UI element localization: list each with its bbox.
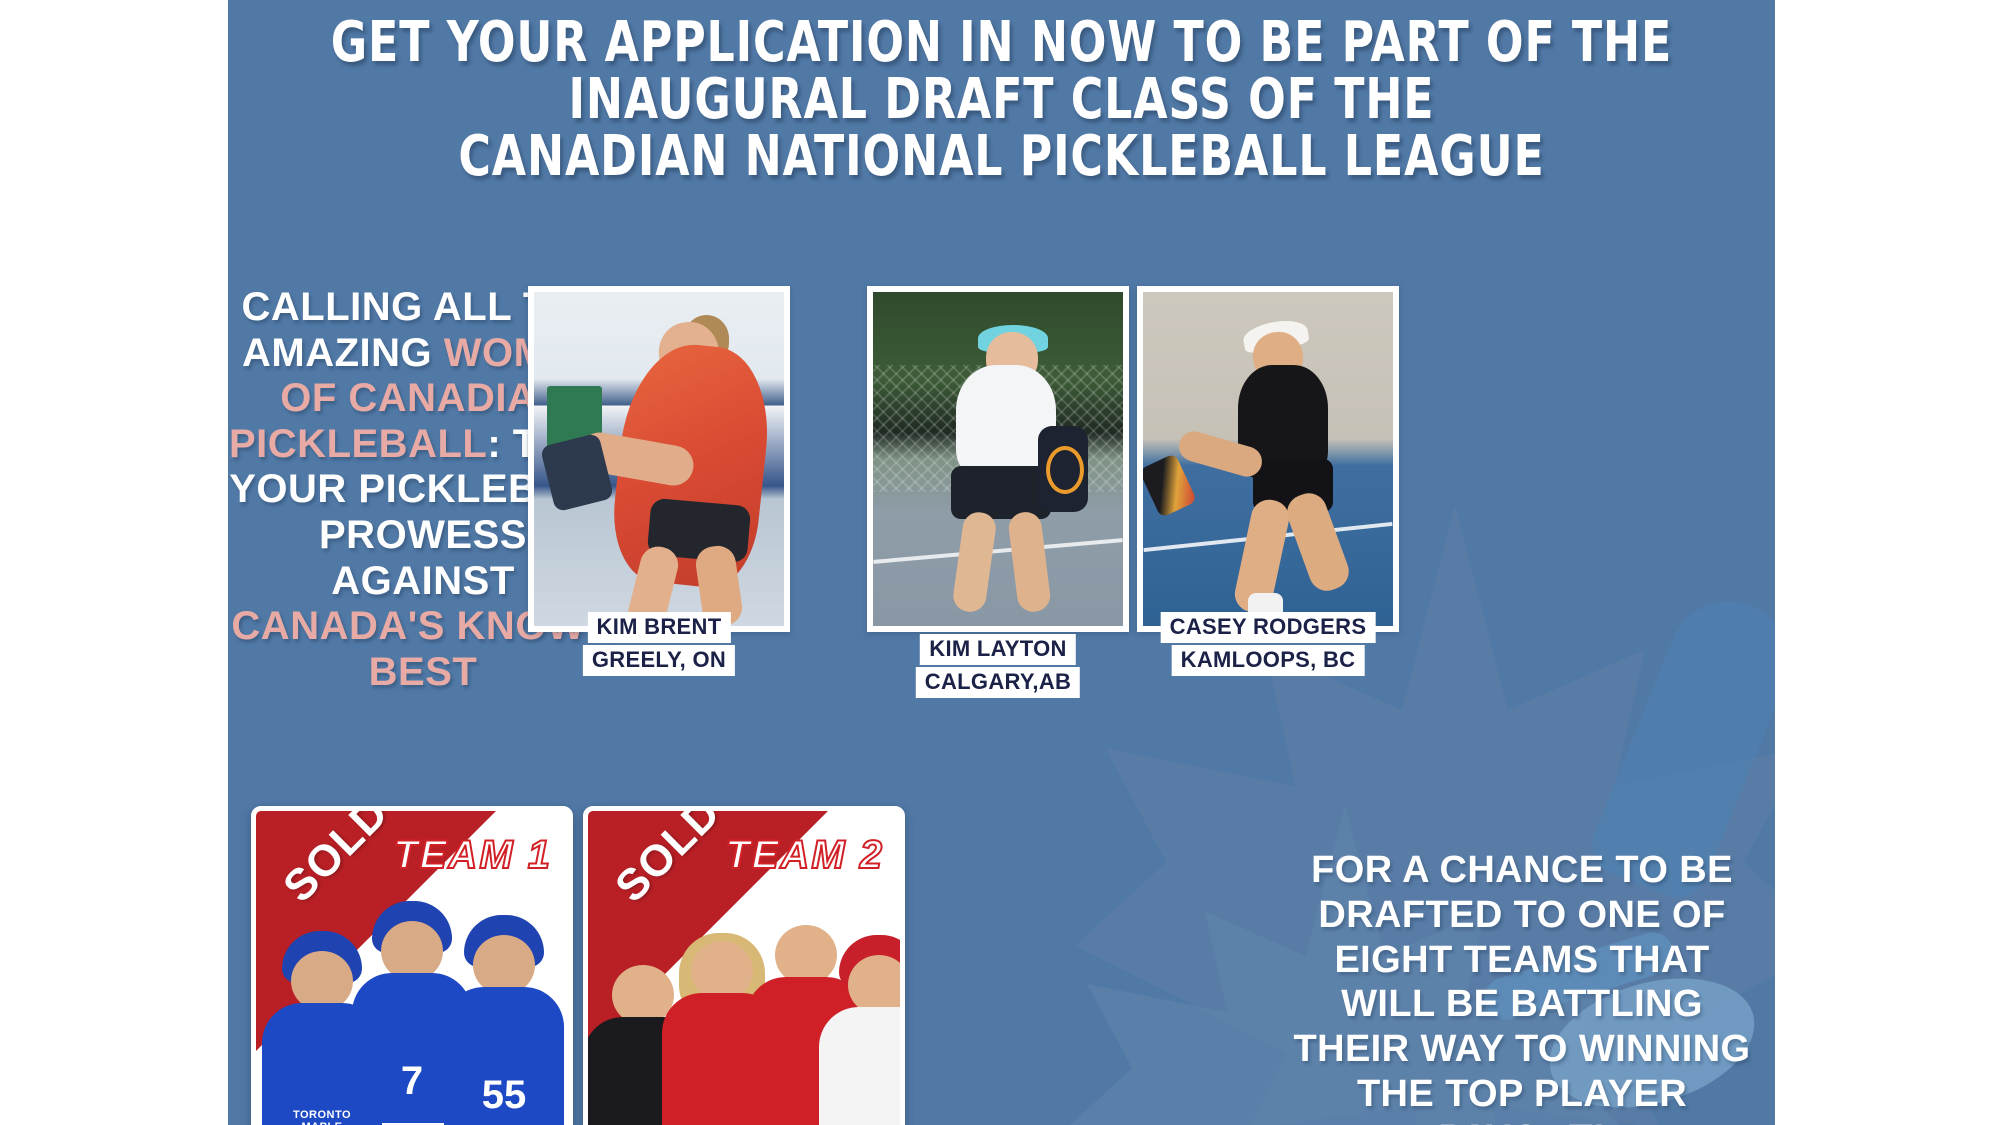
player-head	[473, 935, 535, 995]
team-roster-photo: TORONTO MAPLE LEAFS 7 55	[256, 921, 568, 1125]
player-caption-3: CASEY RODGERS KAMLOOPS, BC	[1161, 612, 1376, 678]
headline-line-2: INAUGURAL DRAFT CLASS OF THE	[321, 71, 1682, 128]
right-copy-block: FOR A CHANCE TO BE DRAFTED TO ONE OF EIG…	[1287, 848, 1757, 1125]
player-jersey	[819, 1007, 900, 1125]
headline-line-1: GET YOUR APPLICATION IN NOW TO BE PART O…	[321, 14, 1682, 71]
player-location: CALGARY,AB	[916, 667, 1080, 698]
player-skirt	[951, 466, 1051, 519]
team-member	[824, 955, 900, 1125]
player-location: KAMLOOPS, BC	[1172, 645, 1365, 676]
player-head	[291, 951, 353, 1011]
player-name: CASEY RODGERS	[1161, 612, 1376, 643]
player-photo-2	[873, 292, 1123, 626]
court-line	[873, 538, 1122, 564]
team-card-1-content: SOLD TEAM 1 TORONTO MAPLE LEAFS 7	[256, 811, 568, 1125]
paddle-logo-icon	[1046, 446, 1084, 494]
player-head	[691, 941, 753, 1001]
player-name: KIM BRENT	[588, 612, 731, 643]
team-wordmark: TORONTO MAPLE LEAFS	[292, 1110, 352, 1125]
player-leg-left	[951, 511, 997, 615]
jersey-number: 55	[482, 1073, 527, 1118]
poster-canvas: GET YOUR APPLICATION IN NOW TO BE PART O…	[228, 0, 1775, 1125]
team-number-label: TEAM 1	[393, 833, 552, 878]
player-leg-right	[1282, 489, 1354, 597]
team-roster-photo	[588, 921, 900, 1125]
jersey-number: 7	[401, 1059, 423, 1104]
team-card-2-content: SOLD TEAM 2	[588, 811, 900, 1125]
player-head	[381, 921, 443, 981]
headline-line-3: CANADIAN NATIONAL PICKLEBALL LEAGUE	[321, 128, 1682, 185]
player-jersey: 55	[444, 987, 564, 1125]
player-photo-3	[1143, 292, 1393, 626]
team-number-label: TEAM 2	[725, 833, 884, 878]
player-head	[848, 955, 900, 1015]
team-card-2[interactable]: SOLD TEAM 2	[583, 806, 905, 1125]
paddle-icon	[1143, 453, 1197, 518]
player-card-2[interactable]: KIM LAYTON CALGARY,AB	[867, 286, 1129, 632]
player-photo-1	[534, 292, 784, 626]
player-name: KIM LAYTON	[920, 634, 1075, 665]
hockey-player: 55	[444, 935, 564, 1125]
player-leg-right	[1007, 511, 1051, 614]
player-card-1[interactable]: KIM BRENT GREELY, ON	[528, 286, 790, 632]
team-card-1[interactable]: SOLD TEAM 1 TORONTO MAPLE LEAFS 7	[251, 806, 573, 1125]
player-location: GREELY, ON	[583, 645, 735, 676]
headline: GET YOUR APPLICATION IN NOW TO BE PART O…	[321, 14, 1682, 185]
player-caption-2: KIM LAYTON CALGARY,AB	[916, 634, 1080, 700]
player-caption-1: KIM BRENT GREELY, ON	[583, 612, 735, 678]
player-card-3[interactable]: CASEY RODGERS KAMLOOPS, BC	[1137, 286, 1399, 632]
